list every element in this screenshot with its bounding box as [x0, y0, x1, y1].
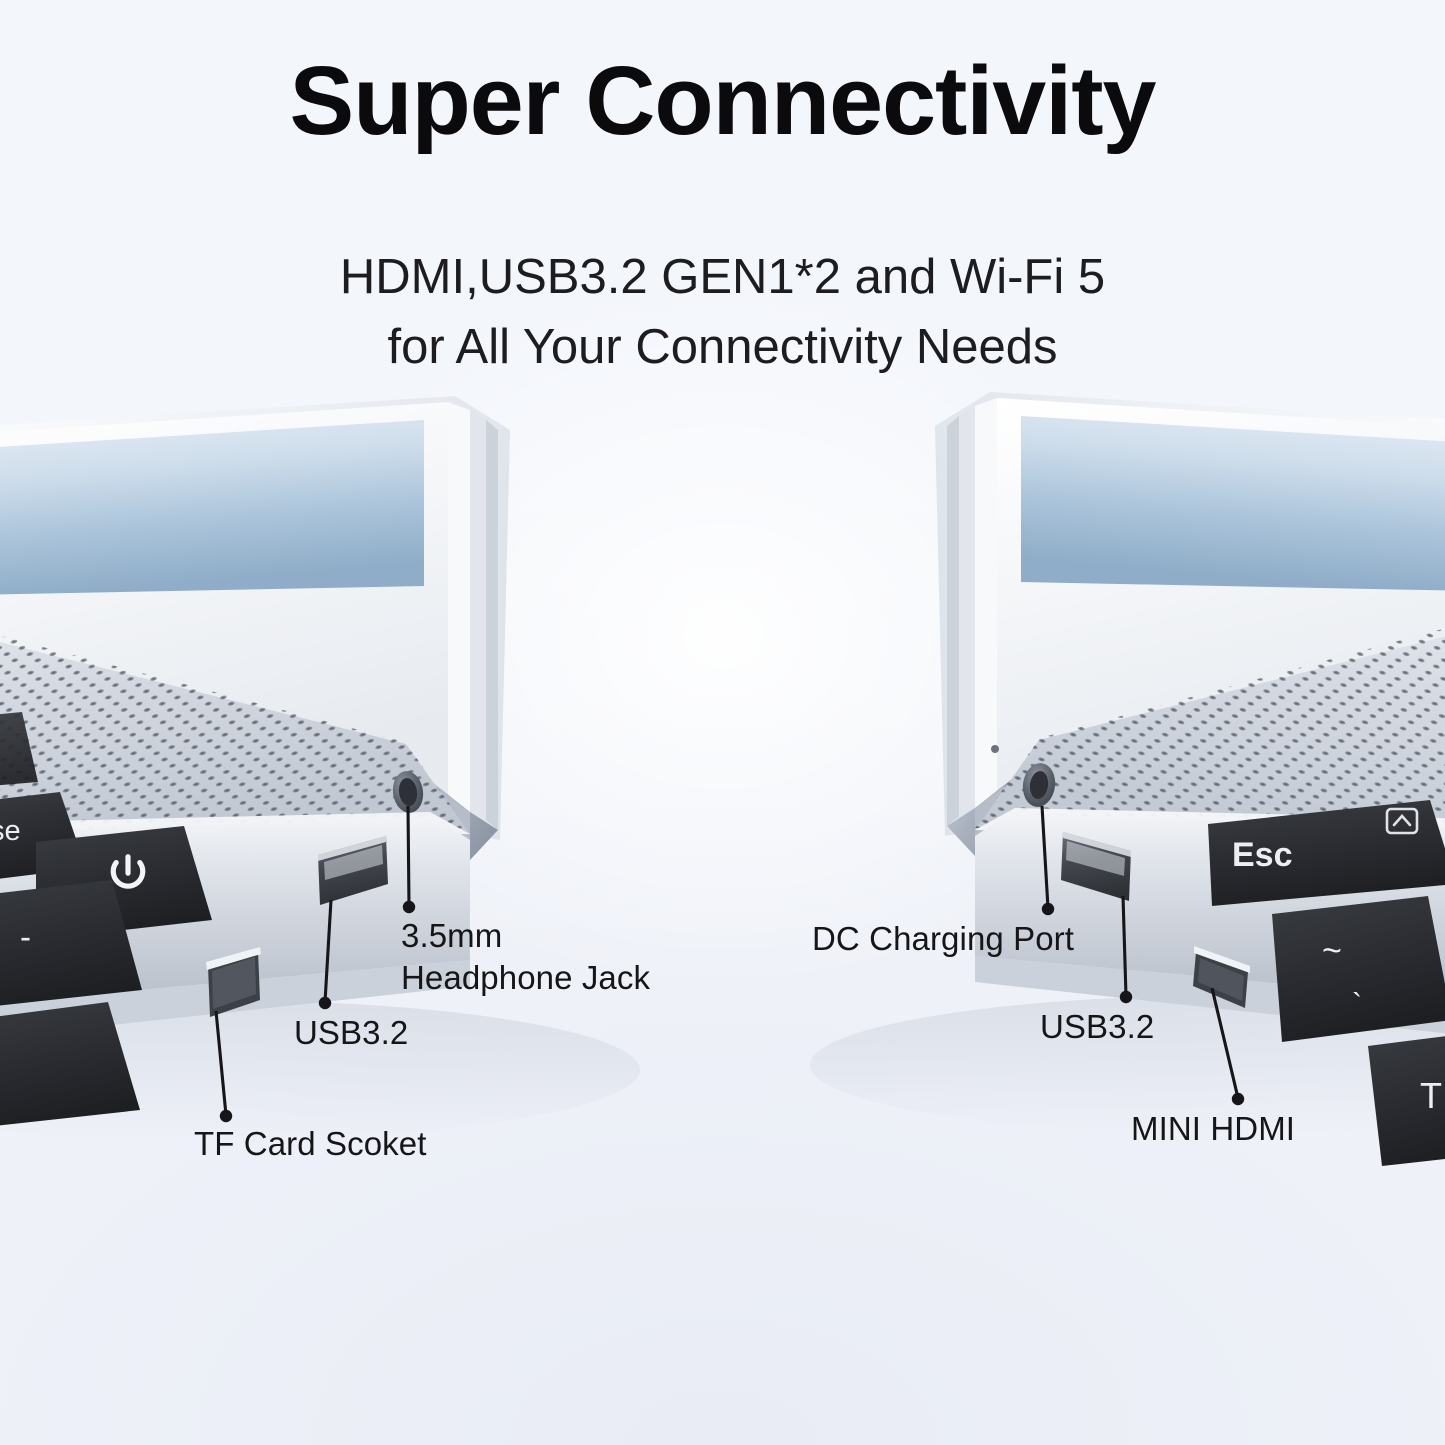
- backtick-key-label: `: [1352, 988, 1362, 1021]
- leader-dot-dc-port: [1042, 903, 1054, 915]
- leader-dot-mini-hdmi: [1232, 1093, 1244, 1105]
- callout-mini-hdmi: MINI HDMI: [1131, 1108, 1295, 1151]
- right-screen: [1021, 416, 1445, 592]
- callout-tf-card: TF Card Scoket: [194, 1123, 426, 1166]
- tab-key: T: [1368, 1026, 1445, 1166]
- product-feature-image: se -: [0, 0, 1445, 1445]
- callout-dc-charging-port-line1: DC Charging Port: [812, 918, 1074, 961]
- leader-dot-usb-right: [1120, 991, 1132, 1003]
- tilde-key: ~ `: [1272, 896, 1445, 1042]
- esc-key-label: Esc: [1232, 836, 1293, 874]
- laptop-illustration: se -: [0, 0, 1445, 1445]
- tilde-key-label: ~: [1322, 932, 1342, 970]
- left-lid-spine-edge: [470, 410, 486, 820]
- tab-key-label: T: [1420, 1075, 1442, 1116]
- left-lid-spine-shadow: [486, 420, 498, 830]
- leader-dot-headphone-jack: [403, 901, 415, 913]
- subtitle-line-1: HDMI,USB3.2 GEN1*2 and Wi-Fi 5: [0, 243, 1445, 313]
- pause-key-label: se: [0, 815, 21, 847]
- minus-key-label: -: [20, 918, 31, 955]
- leader-headphone-jack: [408, 806, 409, 906]
- leader-dot-usb-left: [319, 997, 331, 1009]
- right-lid-spine-edge: [959, 406, 975, 816]
- leader-dot-tf-card: [220, 1110, 232, 1122]
- right-lid-spine-shadow: [947, 416, 959, 826]
- callout-headphone-jack-line2: Headphone Jack: [401, 957, 650, 999]
- left-lid-spine: [448, 402, 470, 812]
- callout-headphone-jack: 3.5mm Headphone Jack: [401, 915, 650, 999]
- right-mic-hole: [991, 745, 999, 753]
- callout-usb-right: USB3.2: [1040, 1006, 1154, 1049]
- callout-dc-charging-port: DC Charging Port: [812, 918, 1074, 961]
- subtitle-line-2: for All Your Connectivity Needs: [0, 313, 1445, 383]
- callout-usb-right-line1: USB3.2: [1040, 1006, 1154, 1049]
- callout-usb-left: USB3.2: [294, 1012, 408, 1055]
- callout-tf-card-line1: TF Card Scoket: [194, 1123, 426, 1166]
- callout-usb-left-line1: USB3.2: [294, 1012, 408, 1055]
- page-subtitle: HDMI,USB3.2 GEN1*2 and Wi-Fi 5 for All Y…: [0, 243, 1445, 382]
- page-title: Super Connectivity: [0, 52, 1445, 151]
- callout-mini-hdmi-line1: MINI HDMI: [1131, 1108, 1295, 1151]
- left-screen: [0, 420, 424, 596]
- callout-headphone-jack-line1: 3.5mm: [401, 915, 650, 957]
